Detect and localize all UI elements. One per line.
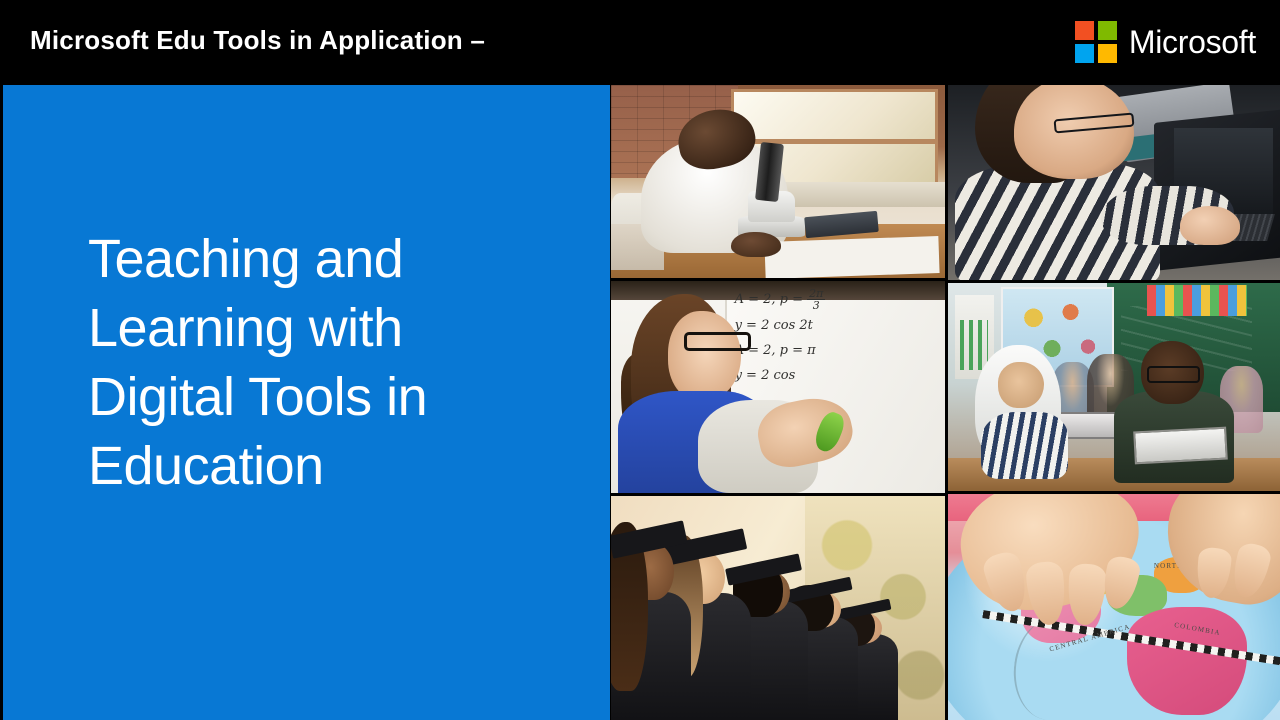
page-title: Microsoft Edu Tools in Application – — [30, 25, 485, 56]
photo-collage: A = 2, p = 2π3 y = 2 cos 2t A = 2, p = π… — [611, 85, 1280, 720]
slide-header-bar: Microsoft Edu Tools in Application – Mic… — [0, 0, 1280, 85]
photo-graduates — [611, 496, 945, 720]
title-panel: Teaching and Learning with Digital Tools… — [3, 85, 610, 720]
logo-square-green — [1098, 21, 1117, 40]
logo-square-red — [1075, 21, 1094, 40]
photo-student-laptop — [948, 85, 1280, 280]
photo-classroom-tablets — [948, 283, 1280, 491]
slide-canvas: Microsoft Edu Tools in Application – Mic… — [0, 0, 1280, 720]
logo-square-yellow — [1098, 44, 1117, 63]
logo-square-blue — [1075, 44, 1094, 63]
photo-globe-hands: NORTH CENTRAL AMERICA COLOMBIA — [948, 494, 1280, 720]
microsoft-wordmark: Microsoft — [1129, 24, 1256, 61]
microsoft-logo-squares-icon — [1075, 21, 1117, 63]
slide-title: Teaching and Learning with Digital Tools… — [88, 225, 558, 501]
photo-microscope-lab — [611, 85, 945, 278]
whiteboard-equations: A = 2, p = 2π3 y = 2 cos 2t A = 2, p = π… — [735, 287, 929, 388]
microsoft-logo: Microsoft — [1075, 16, 1256, 68]
photo-whiteboard-math: A = 2, p = 2π3 y = 2 cos 2t A = 2, p = π… — [611, 281, 945, 493]
